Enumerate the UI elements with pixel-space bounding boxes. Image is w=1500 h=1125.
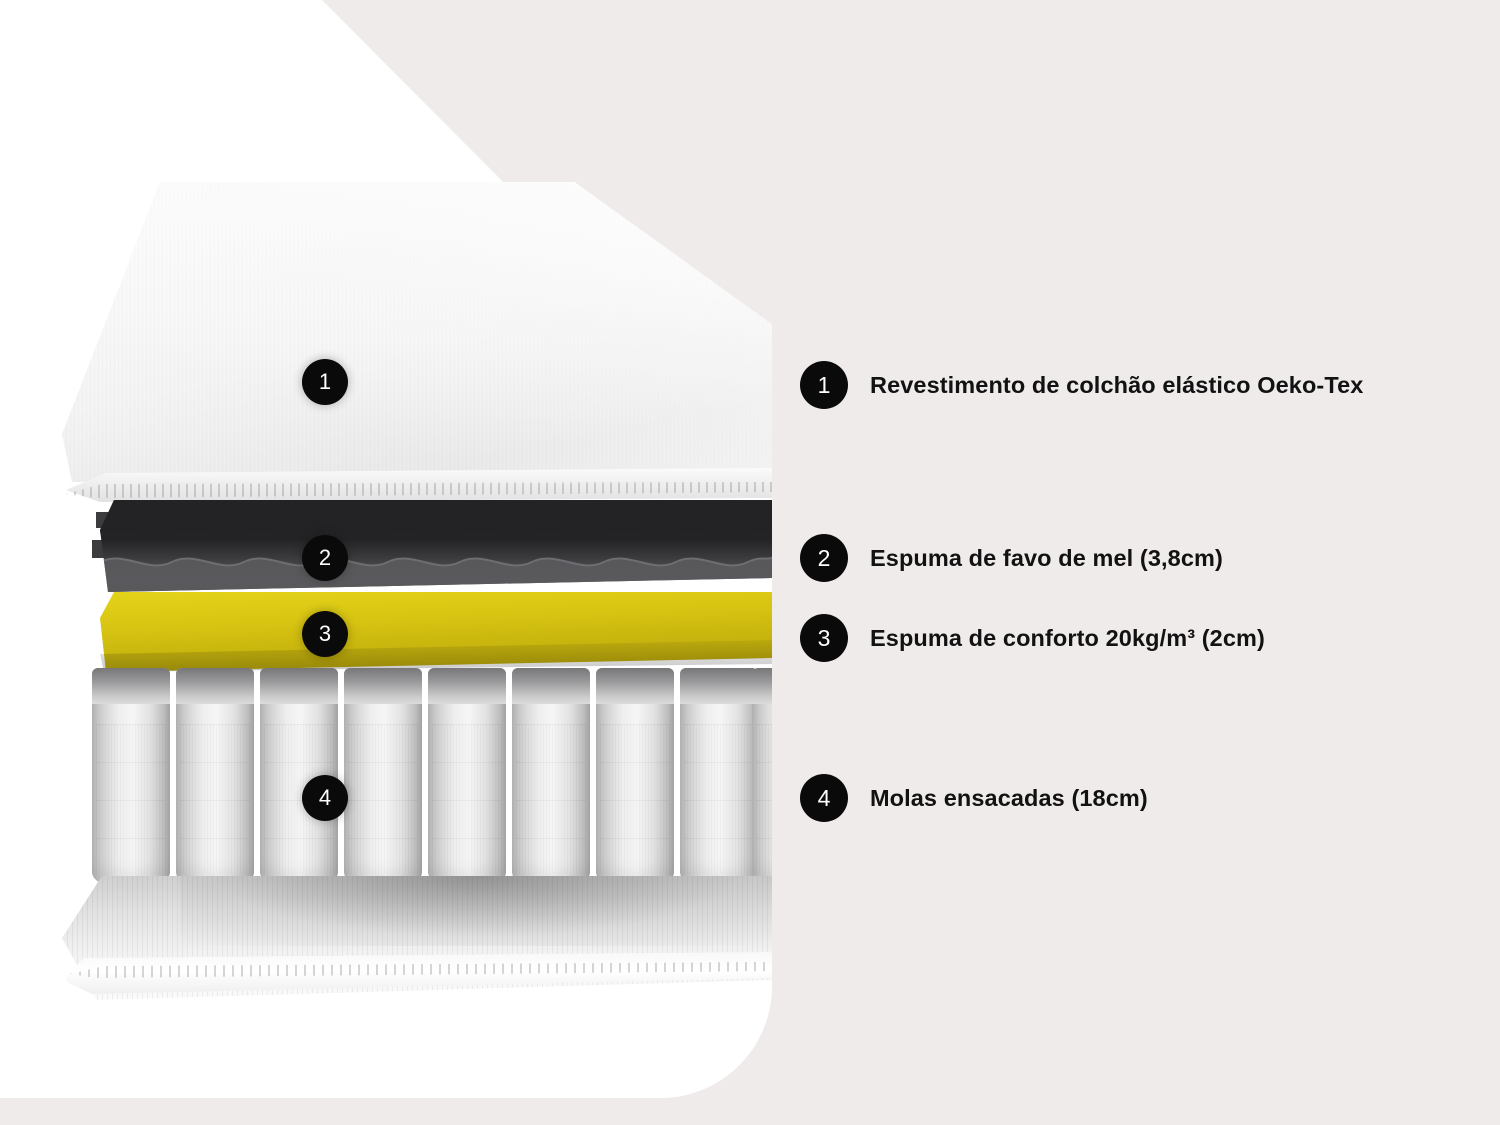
image-badge-4: 4 bbox=[302, 775, 348, 821]
legend-label-4: Molas ensacadas (18cm) bbox=[870, 785, 1148, 812]
image-badge-3-number: 3 bbox=[319, 623, 331, 645]
legend-badge-1: 1 bbox=[800, 361, 848, 409]
mattress-layer-honeycomb-foam bbox=[100, 500, 772, 592]
legend-badge-3: 3 bbox=[800, 614, 848, 662]
image-badge-2-number: 2 bbox=[319, 547, 331, 569]
legend-item-1: 1 Revestimento de colchão elástico Oeko-… bbox=[800, 361, 1363, 409]
legend-list: 1 Revestimento de colchão elástico Oeko-… bbox=[800, 0, 1460, 1125]
legend-item-3: 3 Espuma de conforto 20kg/m³ (2cm) bbox=[800, 614, 1265, 662]
pocket-spring bbox=[176, 668, 254, 888]
legend-label-3: Espuma de conforto 20kg/m³ (2cm) bbox=[870, 625, 1265, 652]
legend-badge-1-number: 1 bbox=[818, 374, 831, 397]
legend-badge-2-number: 2 bbox=[818, 547, 831, 570]
image-badge-2: 2 bbox=[302, 535, 348, 581]
pocket-spring bbox=[512, 668, 590, 888]
image-badge-1-number: 1 bbox=[319, 371, 331, 393]
legend-badge-3-number: 3 bbox=[818, 627, 831, 650]
mattress-layer-comfort-foam bbox=[100, 592, 772, 672]
pocket-spring bbox=[752, 668, 772, 888]
diagram-stage: 1 2 3 4 1 Revestimento de colchão elásti… bbox=[0, 0, 1500, 1125]
mattress-layer-pocket-springs bbox=[92, 668, 772, 898]
legend-badge-2: 2 bbox=[800, 534, 848, 582]
pocket-spring bbox=[596, 668, 674, 888]
legend-label-1: Revestimento de colchão elástico Oeko-Te… bbox=[870, 372, 1363, 399]
legend-label-2: Espuma de favo de mel (3,8cm) bbox=[870, 545, 1223, 572]
legend-item-2: 2 Espuma de favo de mel (3,8cm) bbox=[800, 534, 1223, 582]
legend-item-4: 4 Molas ensacadas (18cm) bbox=[800, 774, 1148, 822]
pocket-spring bbox=[92, 668, 170, 888]
legend-badge-4-number: 4 bbox=[818, 787, 831, 810]
pocket-spring bbox=[680, 668, 758, 888]
mattress-cutaway-illustration: 1 2 3 4 bbox=[0, 0, 772, 1010]
image-badge-1: 1 bbox=[302, 359, 348, 405]
image-badge-3: 3 bbox=[302, 611, 348, 657]
pocket-spring bbox=[344, 668, 422, 888]
pocket-spring bbox=[428, 668, 506, 888]
image-badge-4-number: 4 bbox=[319, 787, 331, 809]
legend-badge-4: 4 bbox=[800, 774, 848, 822]
